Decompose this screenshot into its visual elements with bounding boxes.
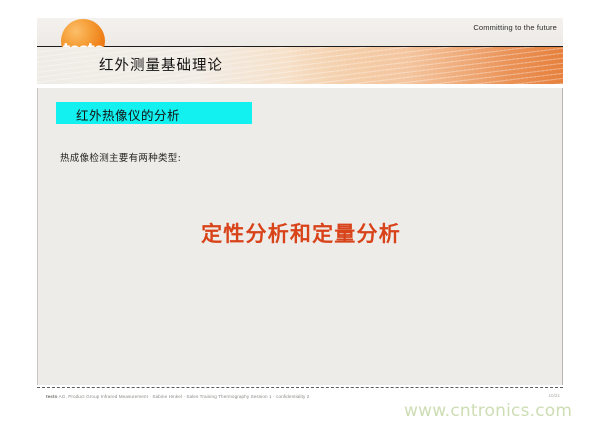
footer-credit: testo AG, Product Group Infrared Measure…	[46, 394, 309, 399]
headline-text: 定性分析和定量分析	[38, 218, 564, 248]
presentation-slide: Committing to the future testo 红外测量基础理论 …	[0, 0, 600, 424]
section-banner-label: 红外热像仪的分析	[76, 105, 180, 124]
footer-credit-text: AG, Product Group Infrared Measurement ·…	[59, 394, 310, 399]
footer-page-number: 10/21	[549, 393, 561, 398]
page-title: 红外测量基础理论	[99, 54, 223, 75]
section-banner: 红外热像仪的分析	[56, 102, 252, 124]
company-tagline: Committing to the future	[473, 23, 557, 32]
slide-title-band: 红外测量基础理论	[37, 47, 563, 84]
slide-body: 红外热像仪的分析 热成像检测主要有两种类型: 定性分析和定量分析	[37, 88, 563, 385]
footer-brand: testo	[46, 394, 57, 399]
intro-text: 热成像检测主要有两种类型:	[60, 150, 181, 164]
footer-divider-rule	[37, 387, 563, 388]
site-watermark: www.cntronics.com	[404, 401, 572, 421]
